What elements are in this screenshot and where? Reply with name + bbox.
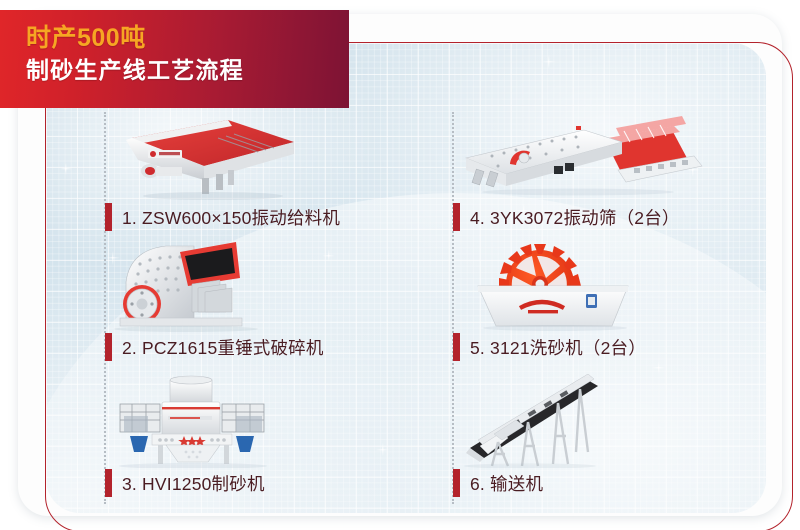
list-item[interactable]: 5. 3121洗砂机（2台） [456,238,766,362]
sand-making-machine-image [108,374,408,466]
item-label-row: 6. 输送机 [456,468,766,498]
list-item[interactable]: 3. HVI1250制砂机 [108,374,408,498]
list-item[interactable]: 2. PCZ1615重锤式破碎机 [108,238,408,362]
banner-title-secondary: 制砂生产线工艺流程 [26,56,349,86]
label-accent-bar [453,469,460,497]
list-item-label: 4. 3YK3072振动筛（2台） [470,205,680,230]
vibrating-screen-image [456,108,766,200]
label-accent-bar [105,469,112,497]
label-accent-bar [105,333,112,361]
item-label-row: 2. PCZ1615重锤式破碎机 [108,332,408,362]
infographic-poster: 1. ZSW600×150振动给料机 [0,0,800,530]
vibrating-feeder-image [108,108,408,200]
title-banner: 时产500吨 制砂生产线工艺流程 [0,10,349,108]
item-label-row: 1. ZSW600×150振动给料机 [108,202,408,232]
list-item-label: 1. ZSW600×150振动给料机 [122,205,340,230]
list-item[interactable]: 1. ZSW600×150振动给料机 [108,108,408,232]
sand-washer-image [456,238,766,330]
list-item-label: 3. HVI1250制砂机 [122,471,265,496]
item-label-row: 3. HVI1250制砂机 [108,468,408,498]
column-rail-left [104,112,106,504]
title-banner-inner: 时产500吨 制砂生产线工艺流程 [0,10,349,85]
list-item-label: 5. 3121洗砂机（2台） [470,335,646,360]
belt-conveyor-image [456,374,766,466]
label-accent-bar [453,333,460,361]
hammer-crusher-image [108,238,408,330]
label-accent-bar [453,203,460,231]
list-item[interactable]: 6. 输送机 [456,374,766,498]
label-accent-bar [105,203,112,231]
list-item[interactable]: 4. 3YK3072振动筛（2台） [456,108,766,232]
column-rail-right [452,112,454,504]
item-label-row: 5. 3121洗砂机（2台） [456,332,766,362]
list-item-label: 2. PCZ1615重锤式破碎机 [122,335,324,360]
list-item-label: 6. 输送机 [470,471,543,496]
item-label-row: 4. 3YK3072振动筛（2台） [456,202,766,232]
banner-title-primary: 时产500吨 [26,24,349,54]
